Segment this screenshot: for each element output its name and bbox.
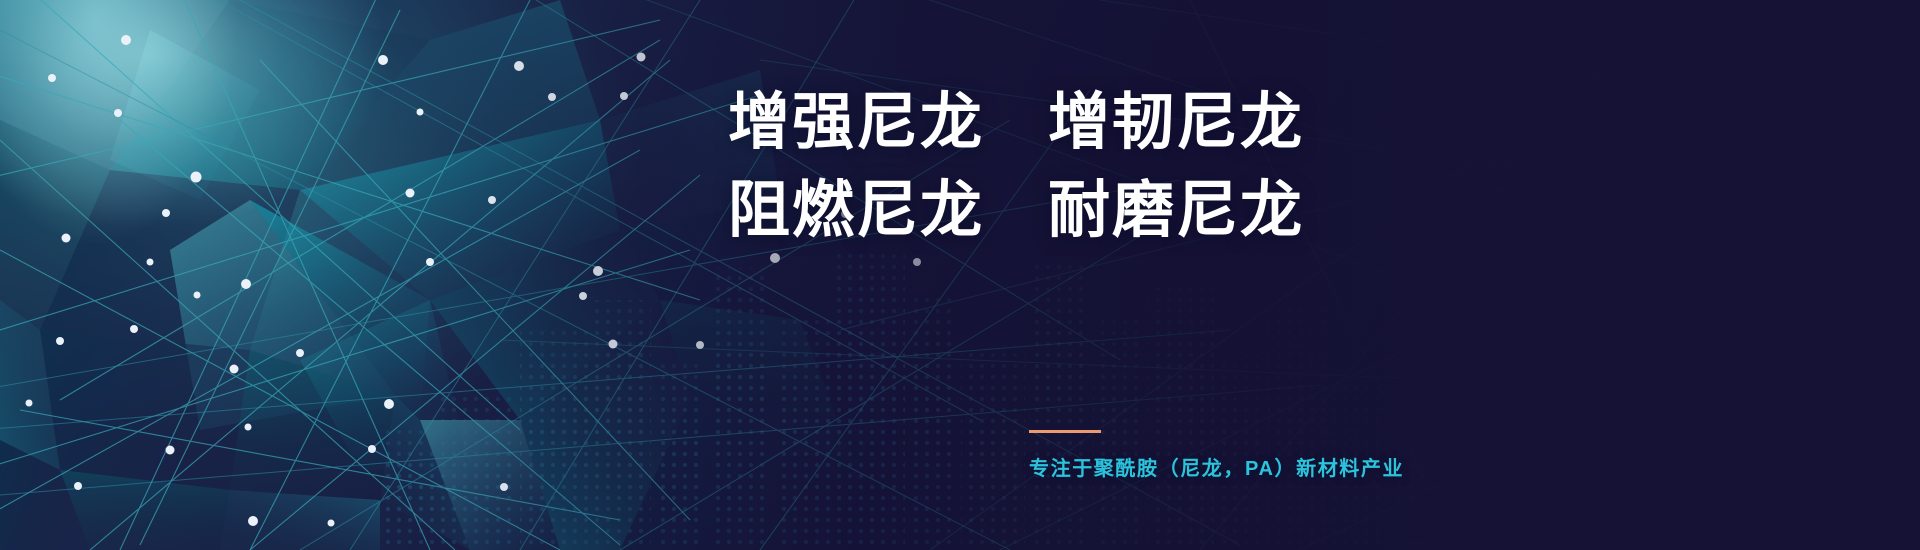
headline-line-1: 增强尼龙 增韧尼龙 [728,82,1488,164]
tagline-divider [1029,430,1101,433]
tagline-block: 专注于聚酰胺（尼龙，PA）新材料产业 [1029,430,1404,481]
tagline-text: 专注于聚酰胺（尼龙，PA）新材料产业 [1029,452,1404,481]
hero-banner: 增强尼龙 增韧尼龙 阻燃尼龙 耐磨尼龙 专注于聚酰胺（尼龙，PA）新材料产业 [0,0,1920,550]
headline-line-2: 阻燃尼龙 耐磨尼龙 [728,170,1488,252]
banner-copy: 增强尼龙 增韧尼龙 阻燃尼龙 耐磨尼龙 [728,82,1488,252]
